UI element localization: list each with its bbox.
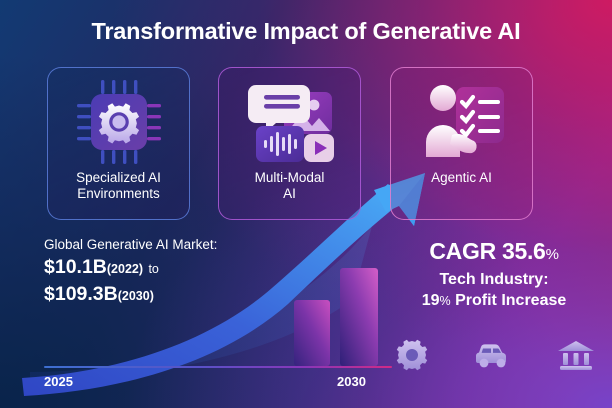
infographic-canvas: Transformative Impact of Generative AI (0, 0, 612, 408)
market-end-value: $109.3B (44, 283, 118, 305)
card-multi-modal-ai[interactable]: Multi-Modal AI (218, 67, 361, 220)
card-label-multi-modal-ai: Multi-Modal AI (255, 170, 325, 202)
timeline-axis (44, 366, 392, 368)
market-start-value: $10.1B (44, 256, 107, 278)
industry-icon-row (395, 338, 595, 377)
bar-2025 (294, 300, 330, 366)
market-heading: Global Generative AI Market: (44, 237, 294, 252)
market-start-year: (2022) (107, 262, 143, 276)
market-connector: to (148, 262, 158, 276)
card-label-agentic-ai: Agentic AI (431, 170, 492, 186)
bar-2030 (340, 268, 378, 366)
tech-industry-label: Tech Industry: (388, 271, 600, 289)
market-stat-block: Global Generative AI Market: $10.1B(2022… (44, 237, 294, 309)
card-specialized-ai-environments[interactable]: Specialized AI Environments (47, 67, 190, 220)
market-start-line: $10.1B(2022) to (44, 255, 294, 282)
axis-label-end: 2030 (337, 374, 366, 389)
person-checklist-icon (414, 74, 510, 170)
bank-icon (557, 339, 595, 376)
profit-increase-stat: 19% Profit Increase (388, 292, 600, 310)
multimodal-media-icon (242, 74, 338, 170)
profit-unit: % (440, 294, 451, 308)
cagr-label: CAGR 35.6 (429, 238, 545, 264)
profit-label: Profit Increase (455, 292, 566, 309)
gear-icon (395, 338, 429, 377)
card-label-specialized-ai-environments: Specialized AI Environments (76, 170, 161, 202)
car-icon (472, 340, 514, 375)
profit-value: 19 (422, 292, 440, 309)
market-end-year: (2030) (118, 289, 154, 303)
cagr-unit: % (546, 246, 559, 263)
card-agentic-ai[interactable]: Agentic AI (390, 67, 533, 220)
cagr-stat: CAGR 35.6% (388, 238, 600, 265)
page-title: Transformative Impact of Generative AI (0, 18, 612, 45)
growth-stat-block: CAGR 35.6% Tech Industry: 19% Profit Inc… (388, 238, 600, 310)
axis-label-start: 2025 (44, 374, 73, 389)
market-end-line: $109.3B(2030) (44, 282, 294, 309)
chip-gear-icon (75, 74, 163, 170)
